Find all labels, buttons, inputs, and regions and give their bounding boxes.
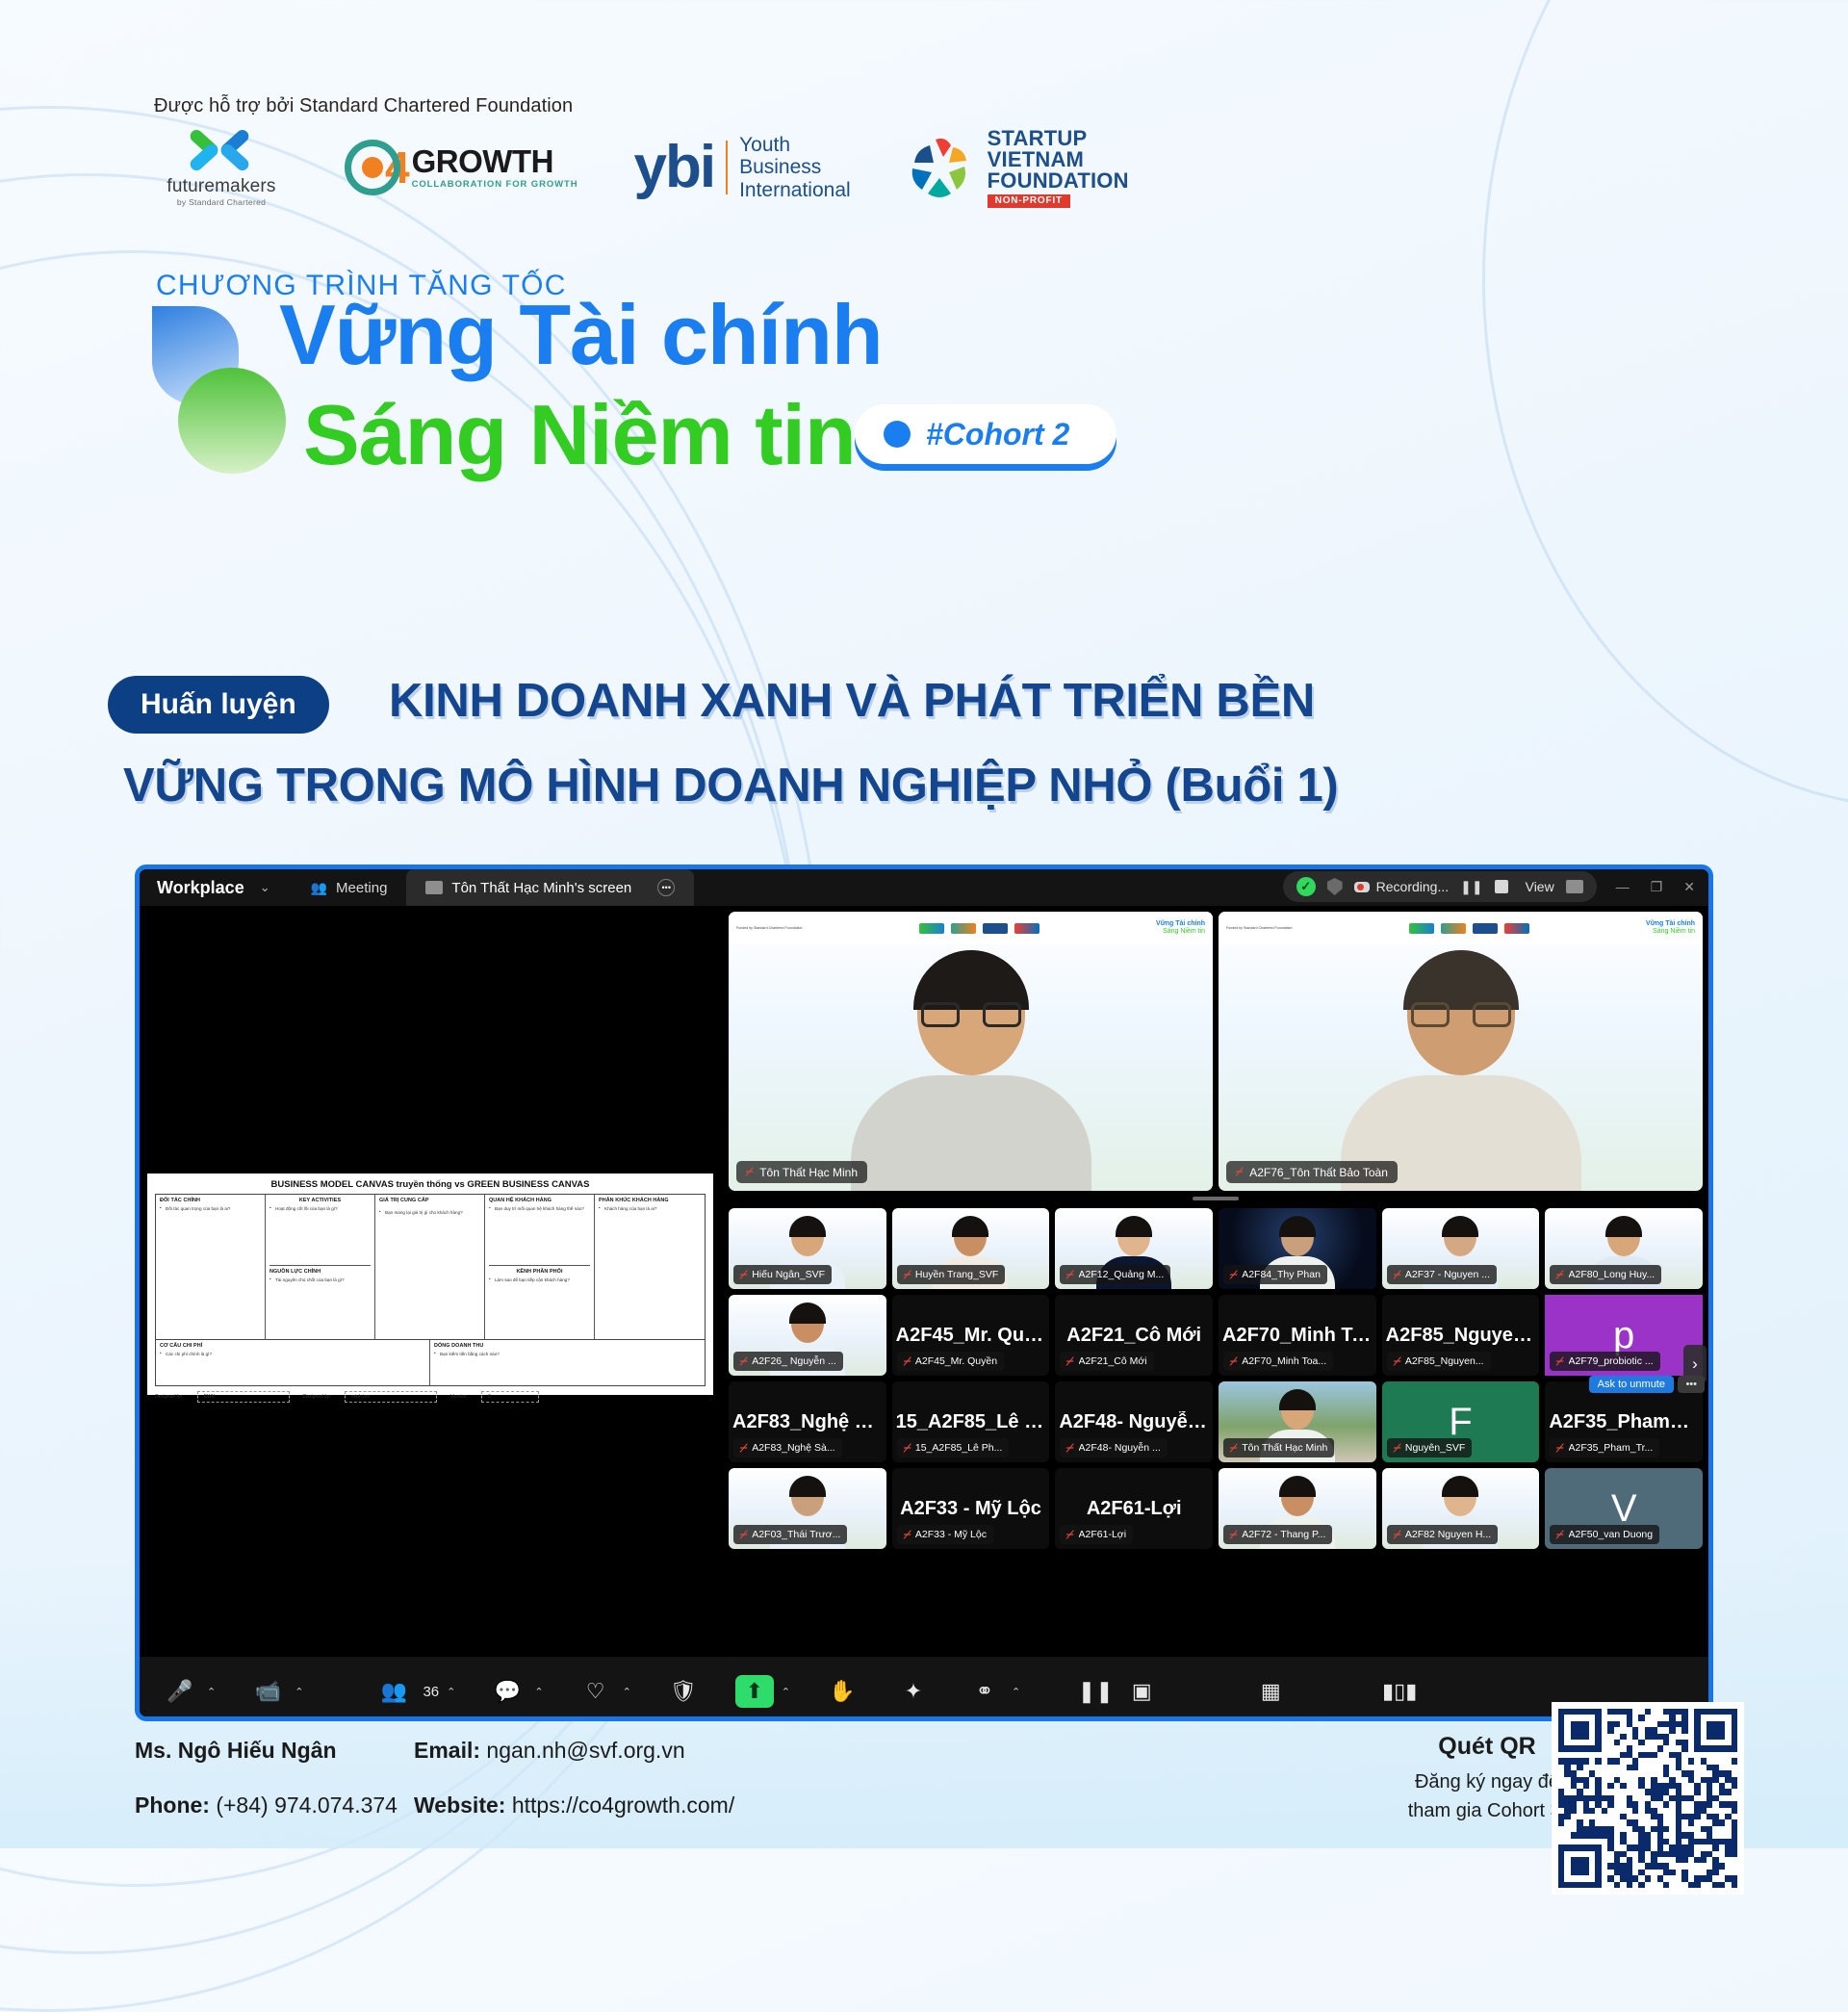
participant-tile[interactable]: ⌿A2F84_Thy Phan	[1219, 1208, 1376, 1289]
participant-name: A2F03_Thái Trươ...	[752, 1529, 840, 1540]
mic-off-icon: ⌿	[1228, 1268, 1238, 1282]
participant-tile[interactable]: A2F70_Minh To...⌿A2F70_Minh Toa...	[1219, 1295, 1376, 1376]
co4growth-subtitle: COLLABORATION FOR GROWTH	[412, 179, 578, 190]
cell-header: GIÁ TRỊ CUNG CẤP	[379, 1198, 480, 1203]
phone-label: Phone:	[135, 1793, 210, 1818]
participant-name: A2F84_Thy Phan	[1242, 1269, 1321, 1280]
participant-name: A2F82 Nguyen H...	[1405, 1529, 1491, 1540]
meeting-app-screenshot: Workplace ⌄ 👥 Meeting Tôn Thất Hạc Minh'…	[135, 864, 1713, 1721]
participant-name-badge: ⌿A2F35_Pham_Tr...	[1550, 1438, 1659, 1457]
cell-body: Tài nguyên chủ chốt của bạn là gì?	[269, 1277, 371, 1283]
participant-tile[interactable]: A2F33 - Mỹ Lộc⌿A2F33 - Mỹ Lộc	[892, 1468, 1050, 1549]
participant-tile[interactable]: V⌿A2F50_van Duong	[1545, 1468, 1703, 1549]
participant-name-badge: ⌿A2F45_Mr. Quyền	[897, 1352, 1004, 1371]
support-line: Được hỗ trợ bởi Standard Chartered Found…	[154, 95, 573, 117]
canvas-cell-partners: ĐỐI TÁC CHÍNH Đối tác quan trọng của bạn…	[156, 1195, 266, 1339]
co4growth-logo: 4 GROWTH COLLABORATION FOR GROWTH	[345, 140, 577, 195]
participant-tile[interactable]: A2F48- Nguyễn...⌿A2F48- Nguyễn ...	[1055, 1381, 1213, 1462]
canvas-grid: ĐỐI TÁC CHÍNH Đối tác quan trọng của bạn…	[155, 1194, 706, 1340]
participant-name-badge: ⌿A2F70_Minh Toa...	[1223, 1352, 1333, 1371]
svf-line-3: FOUNDATION	[988, 170, 1129, 192]
speaker-name: Tôn Thất Hạc Minh	[759, 1166, 858, 1179]
participant-tile[interactable]: ⌿A2F03_Thái Trươ...	[729, 1468, 886, 1549]
mic-off-icon: ⌿	[902, 1441, 911, 1456]
participant-display-name: 15_A2F85_Lê Ph...	[892, 1411, 1050, 1433]
cell-body: Đối tác quan trọng của bạn là ai?	[160, 1206, 261, 1212]
business-model-canvas: BUSINESS MODEL CANVAS truyền thống vs GR…	[147, 1174, 713, 1395]
participant-tile[interactable]: ⌿A2F72 - Thang P...	[1219, 1468, 1376, 1549]
mic-chevron-icon[interactable]: ⌃	[207, 1686, 216, 1698]
participant-name-badge: ⌿A2F48- Nguyễn ...	[1060, 1438, 1167, 1457]
footer-contact: Ms. Ngô Hiếu Ngân Phone: (+84) 974.074.3…	[135, 1738, 914, 1847]
mic-off-icon: ⌿	[1392, 1268, 1401, 1282]
participant-display-name: A2F35_Pham_Tr...	[1545, 1411, 1703, 1433]
mic-off-icon: ⌿	[1392, 1441, 1401, 1456]
mic-off-icon: ⌿	[1392, 1354, 1401, 1369]
canvas-cell-revenue: DÒNG DOANH THU Bạn kiếm tiền bằng cách n…	[430, 1340, 705, 1385]
participant-tile[interactable]: A2F61-Lợi⌿A2F61-Lợi	[1055, 1468, 1213, 1549]
cell-body: Làm sao để bạn tiếp cận khách hàng?	[489, 1277, 590, 1283]
banner-funded-label: Funded by Standard Chartered Foundation	[736, 926, 803, 930]
canvas-cell-value: GIÁ TRỊ CUNG CẤP Bạn mang lại giá trị gì…	[375, 1195, 485, 1339]
chat-chevron-icon[interactable]: ⌃	[534, 1686, 543, 1698]
view-label[interactable]: View	[1526, 879, 1554, 894]
participants-count: 36	[423, 1684, 439, 1700]
mic-off-icon: ⌿	[1555, 1441, 1565, 1456]
maximize-icon[interactable]: ❐	[1651, 879, 1663, 895]
participants-button[interactable]: 👥	[374, 1675, 413, 1708]
participant-tile[interactable]: ⌿Tôn Thất Hạc Minh	[1219, 1381, 1376, 1462]
participants-panel: Funded by Standard Chartered Foundation …	[723, 906, 1708, 1721]
pause-icon[interactable]: ❚❚	[1460, 879, 1482, 895]
cell-header: QUAN HỆ KHÁCH HÀNG	[489, 1198, 590, 1203]
headline-line-1: KINH DOANH XANH VÀ PHÁT TRIỂN BỀN	[389, 674, 1315, 728]
contact-website[interactable]: Website: https://co4growth.com/	[414, 1793, 914, 1819]
participant-name-badge: ⌿A2F79_probiotic ...	[1550, 1352, 1659, 1371]
participant-name: Tôn Thất Hạc Minh	[1242, 1442, 1327, 1454]
co4growth-wordmark: GROWTH	[412, 145, 578, 177]
participant-name: A2F35_Pham_Tr...	[1569, 1442, 1654, 1454]
share-screen-button[interactable]: ⬆	[735, 1675, 774, 1708]
mic-off-icon: ⌿	[1228, 1441, 1238, 1456]
participant-name-badge: ⌿A2F83_Nghệ Sà...	[733, 1438, 842, 1457]
participant-grid: ⌿Hiếu Ngân_SVF⌿Huyền Trang_SVF⌿A2F12_Quả…	[723, 1200, 1708, 1549]
decorative-green-blob	[178, 368, 286, 474]
participant-name: Hiếu Ngân_SVF	[752, 1269, 825, 1280]
qr-subtitle-line1: Đăng ký ngay để	[1415, 1771, 1559, 1793]
topbar-right-group: ✓ Recording... ❚❚ View — ❐ ✕	[1283, 871, 1695, 902]
participant-name-badge: ⌿A2F37 - Nguyen ...	[1387, 1265, 1497, 1284]
recording-indicator[interactable]: Recording...	[1354, 879, 1449, 894]
participant-name-badge: ⌿15_A2F85_Lê Ph...	[897, 1438, 1010, 1457]
participant-name: A2F70_Minh Toa...	[1242, 1355, 1326, 1367]
participant-name: A2F37 - Nguyen ...	[1405, 1269, 1490, 1280]
cohort-label: #Cohort 2	[926, 417, 1069, 452]
banner-brand-line2: Sáng Niềm tin	[1646, 928, 1695, 936]
participant-name-badge: ⌿Tôn Thất Hạc Minh	[1223, 1438, 1334, 1457]
speaker-tile-2[interactable]: Funded by Standard Chartered Foundation …	[1219, 912, 1703, 1191]
phone-value: (+84) 974.074.374	[216, 1793, 398, 1818]
minimize-icon[interactable]: —	[1616, 879, 1630, 894]
cell-header: KÊNH PHÂN PHỐI	[489, 1269, 590, 1275]
participant-name: A2F79_probiotic ...	[1569, 1355, 1654, 1367]
active-speaker-row: Funded by Standard Chartered Foundation …	[723, 906, 1708, 1191]
program-title-line1: Vững Tài chính	[279, 293, 883, 377]
cell-body: Bạn kiếm tiền bằng cách nào?	[434, 1352, 701, 1357]
participant-name: A2F12_Quảng M...	[1079, 1269, 1165, 1280]
participant-name: A2F85_Nguyen...	[1405, 1355, 1484, 1367]
participant-display-name: A2F33 - Mỹ Lộc	[896, 1498, 1045, 1520]
tab-screen-share-label: Tôn Thất Hạc Minh's screen	[451, 880, 631, 896]
canvas-title: BUSINESS MODEL CANVAS truyền thống vs GR…	[155, 1179, 706, 1190]
banner-funded-label: Funded by Standard Chartered Foundation	[1226, 926, 1293, 930]
speaker-name-badge: ⌿ Tôn Thất Hạc Minh	[736, 1161, 867, 1183]
participant-name: Nguyên_SVF	[1405, 1442, 1465, 1454]
app-topbar: Workplace ⌄ 👥 Meeting Tôn Thất Hạc Minh'…	[140, 869, 1708, 906]
apps-button[interactable]: ▦	[1251, 1675, 1290, 1708]
mic-off-icon: ⌿	[1065, 1528, 1075, 1542]
participant-name: A2F61-Lợi	[1079, 1529, 1127, 1540]
participant-name-badge: ⌿A2F85_Nguyen...	[1387, 1352, 1491, 1371]
participant-name: A2F33 - Mỹ Lộc	[915, 1529, 987, 1540]
mini-futuremakers-icon	[1409, 923, 1434, 934]
qr-module	[1732, 1882, 1737, 1888]
participant-name: A2F21_Cô Mới	[1079, 1355, 1147, 1367]
qr-code[interactable]	[1552, 1702, 1744, 1895]
mic-off-icon: ⌿	[1555, 1354, 1565, 1369]
svf-line-1: STARTUP	[988, 128, 1129, 149]
banner-brand-line2: Sáng Niềm tin	[1156, 928, 1205, 936]
meta-label: Designed by:	[303, 1394, 331, 1400]
participant-tile[interactable]: F⌿Nguyên_SVF	[1382, 1381, 1540, 1462]
layout-icon[interactable]	[1566, 880, 1583, 893]
svf-star-icon	[907, 136, 976, 199]
tab-meeting[interactable]: 👥 Meeting	[292, 869, 407, 906]
cell-header: NGUỒN LỰC CHÍNH	[269, 1269, 371, 1275]
share-chevron-icon[interactable]: ⌃	[782, 1686, 790, 1698]
record-dot-icon	[1354, 882, 1370, 892]
chat-button[interactable]: 💬	[488, 1675, 526, 1708]
screen-thumbnail-icon	[425, 881, 443, 894]
participant-name: A2F80_Long Huy...	[1569, 1269, 1655, 1280]
reactions-button[interactable]: ♡	[577, 1675, 615, 1708]
headline-line-2: VỮNG TRONG MÔ HÌNH DOANH NGHIỆP NHỎ (Buổ…	[123, 759, 1338, 813]
svf-nonprofit-badge: NON-PROFIT	[988, 194, 1070, 208]
tab-more-icon[interactable]: •••	[657, 879, 675, 896]
contact-name: Ms. Ngô Hiếu Ngân	[135, 1738, 414, 1764]
speaker-name-badge: ⌿ A2F76_Tôn Thất Bảo Toàn	[1226, 1161, 1398, 1183]
close-icon[interactable]: ✕	[1683, 879, 1695, 895]
meta-value[interactable]: 0	[481, 1391, 539, 1403]
participant-display-name: A2F48- Nguyễn...	[1055, 1411, 1213, 1433]
futuremakers-wordmark: futuremakers	[167, 176, 275, 197]
mic-off-icon: ⌿	[1555, 1528, 1565, 1542]
tab-meeting-label: Meeting	[336, 880, 387, 896]
program-title-line2: Sáng Niềm tin	[303, 393, 856, 477]
cell-body: Các chi phí chính là gì?	[160, 1352, 425, 1357]
meeting-body: BUSINESS MODEL CANVAS truyền thống vs GR…	[140, 906, 1708, 1721]
encryption-check-icon[interactable]: ✓	[1296, 877, 1316, 896]
contact-email: Email: ngan.nh@svf.org.vn	[414, 1738, 914, 1764]
meeting-control-bar: 🎤 ⌃ 📹 ⌃ 👥 36 ⌃ 💬 ⌃ ♡ ⌃ 🛡	[140, 1657, 1708, 1721]
participant-name-badge: ⌿A2F21_Cô Mới	[1060, 1352, 1153, 1371]
cell-body: Bạn duy trì mối quan hệ khách hàng thế n…	[489, 1206, 590, 1212]
participant-name-badge: ⌿A2F72 - Thang P...	[1223, 1525, 1332, 1544]
mini-ybi-icon	[1473, 923, 1498, 934]
cell-header: CƠ CẤU CHI PHÍ	[160, 1343, 425, 1349]
participant-name-badge: ⌿A2F12_Quảng M...	[1060, 1265, 1170, 1284]
mic-off-button[interactable]: 🎤	[161, 1675, 199, 1708]
mic-off-icon: ⌿	[1065, 1441, 1075, 1456]
training-badge: Huấn luyện	[108, 676, 329, 734]
cell-header: DÒNG DOANH THU	[434, 1343, 701, 1349]
cell-header: ĐỐI TÁC CHÍNH	[160, 1198, 261, 1203]
participant-tile[interactable]: ⌿Huyền Trang_SVF	[892, 1208, 1050, 1289]
participant-tile[interactable]: A2F35_Pham_Tr...⌿A2F35_Pham_Tr...	[1545, 1381, 1703, 1462]
mini-ybi-icon	[983, 923, 1008, 934]
recording-label: Recording...	[1376, 879, 1449, 894]
cohort-dot-icon	[884, 421, 911, 448]
cell-body: Khách hàng của bạn là ai?	[599, 1206, 701, 1212]
canvas-bottom-row: CƠ CẤU CHI PHÍ Các chi phí chính là gì? …	[155, 1340, 706, 1386]
participant-tile[interactable]: ⌿A2F37 - Nguyen ...	[1382, 1208, 1540, 1289]
canvas-cell-relations-channels: QUAN HỆ KHÁCH HÀNG Bạn duy trì mối quan …	[485, 1195, 595, 1339]
mic-off-icon: ⌿	[738, 1528, 748, 1542]
futuremakers-logo: futuremakers by Standard Chartered	[154, 128, 289, 207]
meta-value[interactable]: EWV	[197, 1391, 290, 1403]
futuremakers-subtitle: by Standard Chartered	[177, 197, 266, 207]
stop-icon[interactable]	[1495, 880, 1508, 893]
banner-brand-line1: Vững Tài chính	[1646, 920, 1695, 928]
banner-logos	[919, 923, 1039, 934]
banner-logos	[1409, 923, 1529, 934]
participant-name-badge: ⌿A2F03_Thái Trươ...	[733, 1525, 847, 1544]
participant-name: A2F45_Mr. Quyền	[915, 1355, 997, 1367]
participant-name: A2F50_van Duong	[1569, 1529, 1654, 1540]
mic-off-icon: ⌿	[1065, 1268, 1075, 1282]
participant-tile[interactable]: ⌿Hiếu Ngân_SVF	[729, 1208, 886, 1289]
participant-tile[interactable]: ⌿A2F26_ Nguyễn ...	[729, 1295, 886, 1376]
speaker-person-illustration	[1341, 952, 1581, 1191]
participant-tile[interactable]: ⌿A2F80_Long Huy...	[1545, 1208, 1703, 1289]
mini-co4growth-icon	[951, 923, 976, 934]
participant-tile[interactable]: ⌿A2F82 Nguyen H...	[1382, 1468, 1540, 1549]
participant-tile[interactable]: A2F45_Mr. Quyền⌿A2F45_Mr. Quyền	[892, 1295, 1050, 1376]
cell-header: PHÂN KHÚC KHÁCH HÀNG	[599, 1198, 701, 1203]
participant-name-badge: ⌿A2F50_van Duong	[1550, 1525, 1659, 1544]
participants-chevron-icon[interactable]: ⌃	[447, 1686, 455, 1698]
participant-name-badge: ⌿A2F33 - Mỹ Lộc	[897, 1525, 993, 1544]
contact-phone: Phone: (+84) 974.074.374	[135, 1793, 414, 1819]
participant-name-badge: ⌿A2F80_Long Huy...	[1550, 1265, 1661, 1284]
participant-tile[interactable]: A2F83_Nghệ Sà...⌿A2F83_Nghệ Sà...	[729, 1381, 886, 1462]
participant-tile[interactable]: p⌿A2F79_probiotic ...Ask to unmute•••	[1545, 1295, 1703, 1376]
banner-brand-line1: Vững Tài chính	[1156, 920, 1205, 928]
shield-icon[interactable]	[1327, 878, 1343, 895]
participant-tile[interactable]: A2F21_Cô Mới⌿A2F21_Cô Mới	[1055, 1295, 1213, 1376]
participant-name-badge: ⌿Huyền Trang_SVF	[897, 1265, 1006, 1284]
participant-name-badge: ⌿A2F84_Thy Phan	[1223, 1265, 1327, 1284]
email-label: Email:	[414, 1738, 480, 1763]
pause-recording-button[interactable]: ❚❚	[1076, 1675, 1115, 1708]
shared-screen-region[interactable]: BUSINESS MODEL CANVAS truyền thống vs GR…	[140, 906, 719, 1657]
cell-body: Hoạt động cốt lõi của bạn là gì?	[269, 1206, 371, 1212]
security-button[interactable]: 🛡	[664, 1675, 703, 1708]
breakout-chevron-icon[interactable]: ⌃	[1012, 1686, 1020, 1698]
speaker-name: A2F76_Tôn Thất Bảo Toàn	[1249, 1166, 1388, 1179]
svf-logo: STARTUP VIETNAM FOUNDATION NON-PROFIT	[907, 128, 1129, 208]
polls-button[interactable]: ▮▯▮	[1380, 1675, 1419, 1708]
qr-subtitle-line2: tham gia Cohort 3!	[1408, 1800, 1567, 1821]
speaker-virtual-banner: Funded by Standard Chartered Foundation …	[1219, 912, 1703, 944]
speaker-virtual-banner: Funded by Standard Chartered Foundation …	[729, 912, 1213, 944]
participant-name: 15_A2F85_Lê Ph...	[915, 1442, 1003, 1454]
mic-off-icon: ⌿	[744, 1165, 754, 1179]
mic-off-icon: ⌿	[902, 1268, 911, 1282]
participant-name-badge: ⌿Nguyên_SVF	[1387, 1438, 1473, 1457]
participant-name: A2F83_Nghệ Sà...	[752, 1442, 834, 1454]
reactions-chevron-icon[interactable]: ⌃	[623, 1686, 631, 1698]
banner-brand: Vững Tài chính Sáng Niềm tin	[1646, 920, 1695, 936]
partner-logo-row: futuremakers by Standard Chartered 4 GRO…	[154, 131, 1129, 204]
mic-off-icon: ⌿	[1065, 1354, 1075, 1369]
mic-off-icon: ⌿	[1228, 1354, 1238, 1369]
mic-off-icon: ⌿	[738, 1354, 748, 1369]
participant-display-name: A2F85_Nguyen ...	[1382, 1325, 1540, 1347]
camera-chevron-icon[interactable]: ⌃	[295, 1686, 303, 1698]
ybi-wordmark: ybi	[633, 141, 714, 194]
email-value: ngan.nh@svf.org.vn	[486, 1738, 684, 1763]
app-name: Workplace	[140, 878, 260, 898]
meta-label: Designed for:	[155, 1394, 184, 1400]
effects-button[interactable]: ✦	[894, 1675, 933, 1708]
participant-more-button[interactable]: •••	[1678, 1376, 1705, 1393]
participant-tile[interactable]: ⌿A2F12_Quảng M...	[1055, 1208, 1213, 1289]
mini-co4growth-icon	[1441, 923, 1466, 934]
participant-name-badge: ⌿A2F82 Nguyen H...	[1387, 1525, 1499, 1544]
banner-brand: Vững Tài chính Sáng Niềm tin	[1156, 920, 1205, 936]
futuremakers-mark-icon	[190, 128, 253, 172]
participant-tile[interactable]: 15_A2F85_Lê Ph...⌿15_A2F85_Lê Ph...	[892, 1381, 1050, 1462]
mic-off-icon: ⌿	[1555, 1268, 1565, 1282]
participant-name: A2F26_ Nguyễn ...	[752, 1355, 836, 1367]
participant-name: A2F48- Nguyễn ...	[1079, 1442, 1161, 1454]
ask-to-unmute-button[interactable]: Ask to unmute	[1589, 1376, 1674, 1393]
mini-svf-icon	[1014, 923, 1039, 934]
meta-label: Version:	[450, 1394, 468, 1400]
participant-grid-wrapper: ⌿Hiếu Ngân_SVF⌿Huyền Trang_SVF⌿A2F12_Quả…	[723, 1200, 1708, 1549]
participant-name-badge: ⌿A2F61-Lợi	[1060, 1525, 1133, 1544]
cell-body: Bạn mang lại giá trị gì cho khách hàng?	[379, 1210, 480, 1216]
raise-hand-button[interactable]: ✋	[823, 1675, 861, 1708]
participant-tile[interactable]: A2F85_Nguyen ...⌿A2F85_Nguyen...	[1382, 1295, 1540, 1376]
mic-off-icon: ⌿	[738, 1268, 748, 1282]
cohort-badge: #Cohort 2	[855, 404, 1116, 464]
participant-name-badge: ⌿Hiếu Ngân_SVF	[733, 1265, 832, 1284]
speaker-tile-1[interactable]: Funded by Standard Chartered Foundation …	[729, 912, 1213, 1191]
mic-off-icon: ⌿	[738, 1441, 748, 1456]
ybi-fullname: YouthBusinessInternational	[739, 134, 851, 202]
canvas-cell-costs: CƠ CẤU CHI PHÍ Các chi phí chính là gì?	[156, 1340, 430, 1385]
mic-off-icon: ⌿	[902, 1354, 911, 1369]
ybi-logo: ybi YouthBusinessInternational	[633, 134, 850, 202]
participant-display-name: A2F21_Cô Mới	[1063, 1325, 1205, 1347]
mic-off-icon: ⌿	[902, 1528, 911, 1542]
breakout-rooms-button[interactable]: ⚭	[965, 1675, 1004, 1708]
mic-off-icon: ⌿	[1228, 1528, 1238, 1542]
participant-display-name: A2F61-Lợi	[1083, 1498, 1186, 1520]
tab-screen-share[interactable]: Tôn Thất Hạc Minh's screen •••	[406, 869, 694, 906]
canvas-cell-activities-resources: KEY ACTIVITIES Hoạt động cốt lõi của bạn…	[266, 1195, 375, 1339]
speaker-person-illustration	[851, 952, 1091, 1191]
background-arc-4	[1482, 0, 1848, 809]
co4growth-circle-icon	[345, 140, 400, 195]
ybi-divider	[726, 141, 728, 194]
mic-off-icon: ⌿	[1392, 1528, 1401, 1542]
participant-display-name: A2F70_Minh To...	[1219, 1325, 1376, 1347]
chevron-down-icon[interactable]: ⌄	[260, 880, 292, 895]
stop-recording-button[interactable]: ▣	[1122, 1675, 1161, 1708]
canvas-cell-segments: PHÂN KHÚC KHÁCH HÀNG Khách hàng của bạn …	[595, 1195, 705, 1339]
cell-header: KEY ACTIVITIES	[269, 1198, 371, 1203]
website-label: Website:	[414, 1793, 505, 1818]
participant-name: Huyền Trang_SVF	[915, 1269, 998, 1280]
people-icon: 👥	[311, 880, 327, 896]
mini-futuremakers-icon	[919, 923, 944, 934]
svf-line-2: VIETNAM	[988, 149, 1129, 170]
participant-name-badge: ⌿A2F26_ Nguyễn ...	[733, 1352, 843, 1371]
camera-button[interactable]: 📹	[248, 1675, 287, 1708]
participant-display-name: A2F83_Nghệ Sà...	[729, 1411, 886, 1433]
canvas-meta-row: Designed for: EWV Designed by: minh ton …	[155, 1391, 706, 1403]
mic-off-icon: ⌿	[1234, 1165, 1244, 1179]
meta-value[interactable]: minh ton	[345, 1391, 437, 1403]
website-value: https://co4growth.com/	[512, 1793, 734, 1818]
mini-svf-icon	[1504, 923, 1529, 934]
participant-display-name: A2F45_Mr. Quyền	[892, 1325, 1050, 1347]
participant-name: A2F72 - Thang P...	[1242, 1529, 1325, 1540]
